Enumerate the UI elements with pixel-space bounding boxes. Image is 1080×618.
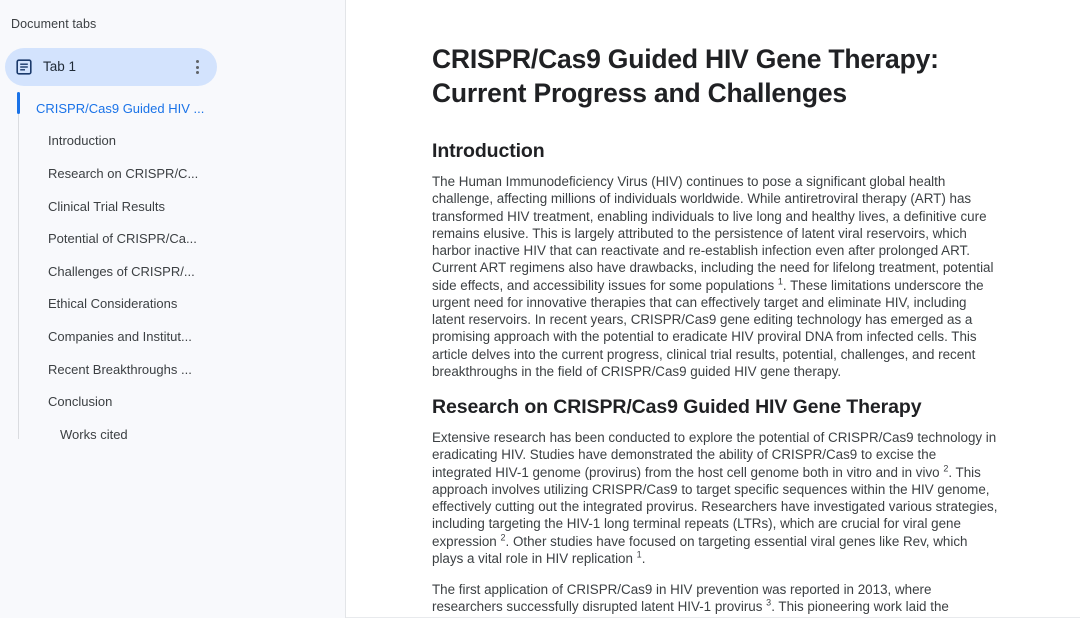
document-editor-window: Document tabs Tab 1 CRISPR/Cas9 Guided H… [0, 0, 1080, 618]
document-tab-label: Tab 1 [43, 59, 76, 74]
section-heading: Research on CRISPR/Cas9 Guided HIV Gene … [432, 394, 1002, 420]
outline-item[interactable]: Potential of CRISPR/Ca... [0, 222, 346, 255]
document-tabs-sidebar: Document tabs Tab 1 CRISPR/Cas9 Guided H… [0, 0, 346, 618]
document-tab-item[interactable]: Tab 1 [5, 48, 217, 86]
outline-item[interactable]: Ethical Considerations [0, 288, 346, 321]
outline-item[interactable]: Works cited [0, 418, 346, 451]
outline-item[interactable]: Conclusion [0, 385, 346, 418]
document-outline-list: CRISPR/Cas9 Guided HIV ...IntroductionRe… [0, 92, 346, 451]
outline-item[interactable]: Challenges of CRISPR/... [0, 255, 346, 288]
document-content-area[interactable]: CRISPR/Cas9 Guided HIV Gene Therapy: Cur… [346, 0, 1080, 618]
kebab-menu-icon[interactable] [190, 59, 204, 75]
outline-item[interactable]: Companies and Institut... [0, 320, 346, 353]
outline-item[interactable]: Clinical Trial Results [0, 190, 346, 223]
outline-item[interactable]: CRISPR/Cas9 Guided HIV ... [0, 92, 346, 125]
sidebar-title: Document tabs [11, 17, 96, 31]
outline-item[interactable]: Recent Breakthroughs ... [0, 353, 346, 386]
outline-item[interactable]: Introduction [0, 125, 346, 158]
section-heading: Introduction [432, 138, 1002, 164]
section-paragraph: Extensive research has been conducted to… [432, 429, 998, 567]
section-paragraph: The first application of CRISPR/Cas9 in … [432, 581, 998, 616]
outline-item[interactable]: Research on CRISPR/C... [0, 157, 346, 190]
document-title: CRISPR/Cas9 Guided HIV Gene Therapy: Cur… [432, 42, 1000, 110]
section-paragraph: The Human Immunodeficiency Virus (HIV) c… [432, 173, 998, 380]
document-sections: IntroductionThe Human Immunodeficiency V… [432, 138, 1002, 616]
document-tab-icon [15, 58, 33, 76]
